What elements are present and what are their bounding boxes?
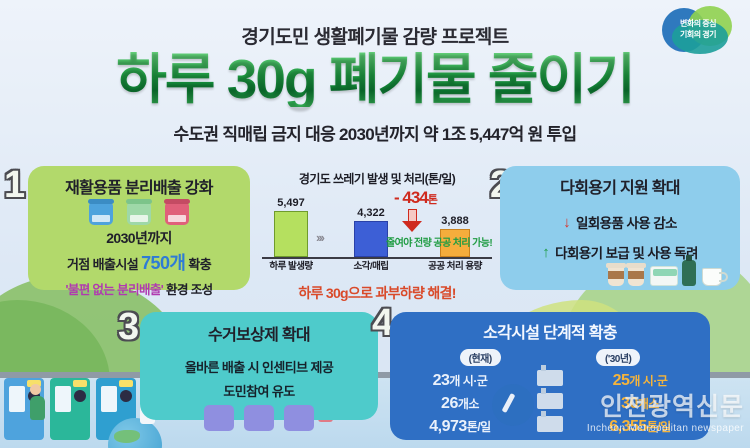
chart-caption: 하루 30g으로 과부하량 해결! <box>258 283 496 303</box>
chart-bar-2-value: 4,322 <box>357 207 385 219</box>
coffee-cup-icon <box>608 266 624 286</box>
card-3-number: 3 <box>118 308 139 346</box>
chart-bar-2-category: 소각/매립 <box>353 258 388 272</box>
tumbler-bottle-icon <box>682 260 696 286</box>
card-1-line-2: 거점 배출시설 750개 확충 <box>28 249 250 275</box>
card-1-line-2-prefix: 거점 배출시설 <box>67 257 141 272</box>
card-2-illustration <box>500 258 740 288</box>
header: 경기도민 생활폐기물 감량 프로젝트 하루 30g 폐기물 줄이기 수도권 직매… <box>0 0 750 160</box>
lunchbox-icon <box>650 266 678 286</box>
chart-plot-area: 5,497 하루 발생량 ››› 4,322 소각/매립 3,888 공공 처리… <box>258 191 496 275</box>
chart-delta-note: 줄여야 전량 공공 처리 가능! <box>386 234 492 249</box>
card-4-row-1-future-unit: 개 시·군 <box>629 374 667 388</box>
card-3-line-1: 올바른 배출 시 인센티브 제공 <box>140 357 378 376</box>
chart-bar-incineration-landfill: 4,322 소각/매립 <box>354 221 388 257</box>
card-1-line-3: '불편 없는 분리배출' 환경 조성 <box>28 279 250 298</box>
card-1-facility-count: 750개 <box>141 253 185 273</box>
card-1-line-1: 2030년까지 <box>28 228 250 248</box>
logo-line-2: 기회의 경기 <box>660 29 736 40</box>
coffee-cup-icon-2 <box>628 266 644 286</box>
mug-icon <box>702 268 722 286</box>
watermark-korean: 인천광역신문 <box>514 387 744 423</box>
page-title: 하루 30g 폐기물 줄이기 <box>0 52 750 107</box>
gyeonggi-logo: 변화의 중심 기회의 경기 <box>660 4 736 56</box>
card-4-header-now: (현재) <box>460 349 501 366</box>
incineration-facility-icon <box>537 370 563 386</box>
recycle-bottle-icon <box>244 405 274 431</box>
chart-bar-3-value: 3,888 <box>441 215 469 227</box>
card-3-icons <box>140 405 378 431</box>
chart-bar-1-value: 5,497 <box>277 197 305 209</box>
card-3-title: 수거보상제 확대 <box>140 321 378 345</box>
chart-delta-value: - 434 <box>394 188 428 207</box>
infographic-root: 경기도민 생활폐기물 감량 프로젝트 하루 30g 폐기물 줄이기 수도권 직매… <box>0 0 750 448</box>
card-1-line-2-suffix: 확충 <box>185 257 211 272</box>
card-4-header-future: ('30년) <box>596 349 640 366</box>
chart-title: 경기도 쓰레기 발생 및 처리(톤/일) <box>258 170 496 187</box>
card-1-quote: '불편 없는 분리배출' <box>65 283 163 297</box>
person-illustration-left <box>30 384 45 420</box>
card-4-column-headers: (현재) ('30년) <box>390 349 710 366</box>
paper-waste-icon <box>284 405 314 431</box>
chart-bar-daily-generation: 5,497 하루 발생량 <box>274 211 308 257</box>
card-4-row-1-now-unit: 개 시·군 <box>449 374 487 388</box>
chart-bar-3-category: 공공 처리 용량 <box>428 258 482 272</box>
watermark-english: Incheon Metropolitan newspaper <box>514 423 744 434</box>
card-recycling-separation: 재활용품 분리배출 강화 2030년까지 거점 배출시설 750개 확충 '불편… <box>28 166 250 290</box>
card-4-row-2-now-value: 26 <box>441 395 458 412</box>
waste-chart: 경기도 쓰레기 발생 및 처리(톤/일) 5,497 하루 발생량 ››› 4,… <box>258 170 496 306</box>
card-1-title: 재활용품 분리배출 강화 <box>28 174 250 198</box>
chart-delta-unit: 톤 <box>428 194 437 206</box>
recycling-bin-teal-icon <box>50 378 90 440</box>
card-4-row-2-now-unit: 개소 <box>458 397 479 411</box>
card-4-row-3-now-unit: 톤/일 <box>467 420 491 434</box>
chart-bar-1-category: 하루 발생량 <box>269 258 312 272</box>
card-1-number: 1 <box>4 166 25 204</box>
card-4-row-1-now-value: 23 <box>433 372 450 389</box>
chart-delta-annotation: - 434톤 <box>394 188 437 208</box>
card-2-row-1-text: 일회용품 사용 감소 <box>576 212 677 232</box>
card-4-title: 소각시설 단계적 확충 <box>390 319 710 343</box>
shopping-bag-icon <box>204 405 234 431</box>
header-subline: 수도권 직매립 금지 대응 2030년까지 약 1조 5,447억 원 투입 <box>0 120 750 145</box>
card-1-line-3-rest: 환경 조성 <box>163 283 212 297</box>
card-4-row-1-future-value: 25 <box>613 372 630 389</box>
card-3-line-2: 도민참여 유도 <box>140 381 378 400</box>
bin-green-icon <box>127 203 151 225</box>
logo-line-1: 변화의 중심 <box>660 18 736 29</box>
chart-chevron-icon: ››› <box>316 230 323 245</box>
card-reusable-container-support: 다회용기 지원 확대 ↓ 일회용품 사용 감소 ↑ 다회용기 보급 및 사용 독… <box>500 166 740 290</box>
card-collection-reward: 수거보상제 확대 올바른 배출 시 인센티브 제공 도민참여 유도 <box>140 312 378 420</box>
card-1-bin-icons <box>28 203 250 225</box>
arrow-down-icon: ↓ <box>563 215 570 230</box>
card-2-row-1: ↓ 일회용품 사용 감소 <box>500 212 740 232</box>
header-eyebrow: 경기도민 생활폐기물 감량 프로젝트 <box>0 22 750 49</box>
pen-logo-icon <box>492 384 534 426</box>
card-4-row-1-now: 23개 시·군 <box>404 372 516 390</box>
bin-red-icon <box>165 203 189 225</box>
watermark: 인천광역신문 Incheon Metropolitan newspaper <box>514 387 744 434</box>
card-2-title: 다회용기 지원 확대 <box>500 174 740 198</box>
bin-blue-icon <box>89 203 113 225</box>
card-4-row-3-now-value: 4,973 <box>429 418 467 435</box>
